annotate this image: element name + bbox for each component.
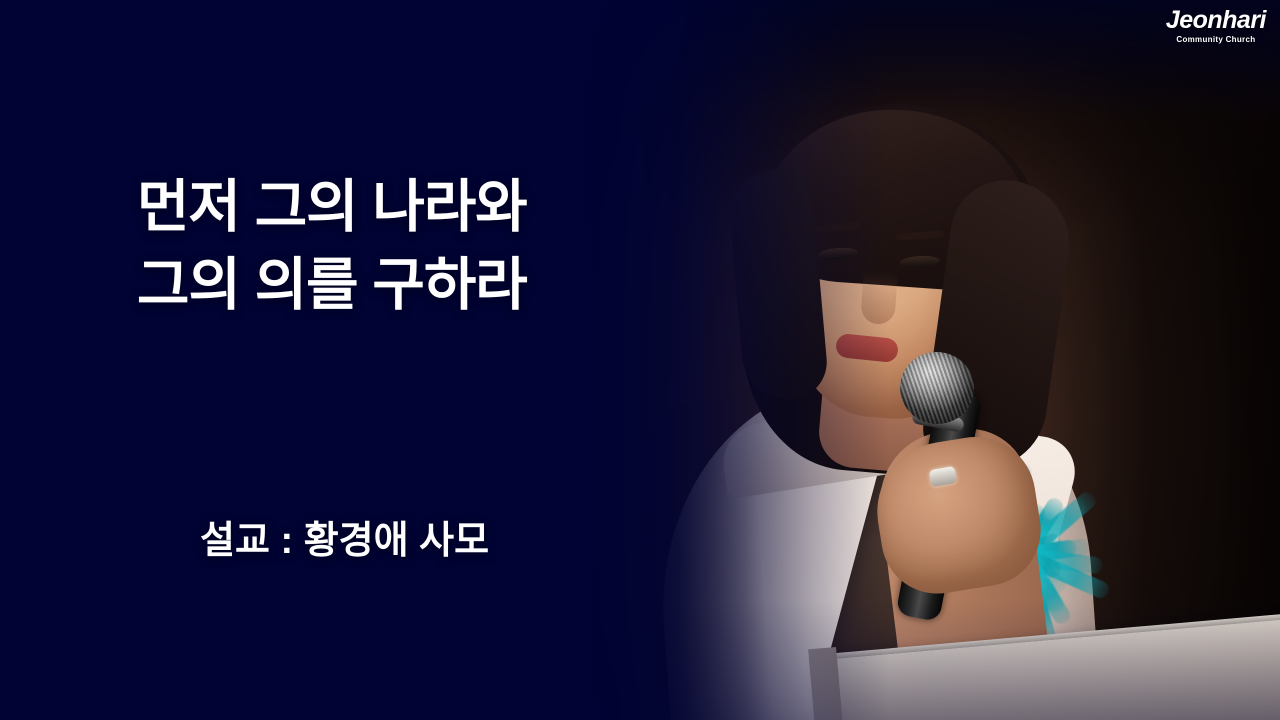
sermon-title-line-1: 먼저 그의 나라와 <box>137 168 527 246</box>
logo-wordmark: Jeonhari <box>1166 8 1266 33</box>
logo-tagline: Community Church <box>1166 36 1266 44</box>
sermon-speaker-label: 설교 : 황경애 사모 <box>200 514 489 568</box>
speaker-photo <box>560 0 1280 720</box>
sermon-title-line-2: 그의 의를 구하라 <box>137 246 527 324</box>
sermon-title-slide: 먼저 그의 나라와 그의 의를 구하라 설교 : 황경애 사모 Jeonhari… <box>0 0 1280 720</box>
sermon-title: 먼저 그의 나라와 그의 의를 구하라 <box>137 168 527 324</box>
church-logo: Jeonhari Community Church <box>1166 8 1266 44</box>
photo-left-blend <box>560 0 890 720</box>
